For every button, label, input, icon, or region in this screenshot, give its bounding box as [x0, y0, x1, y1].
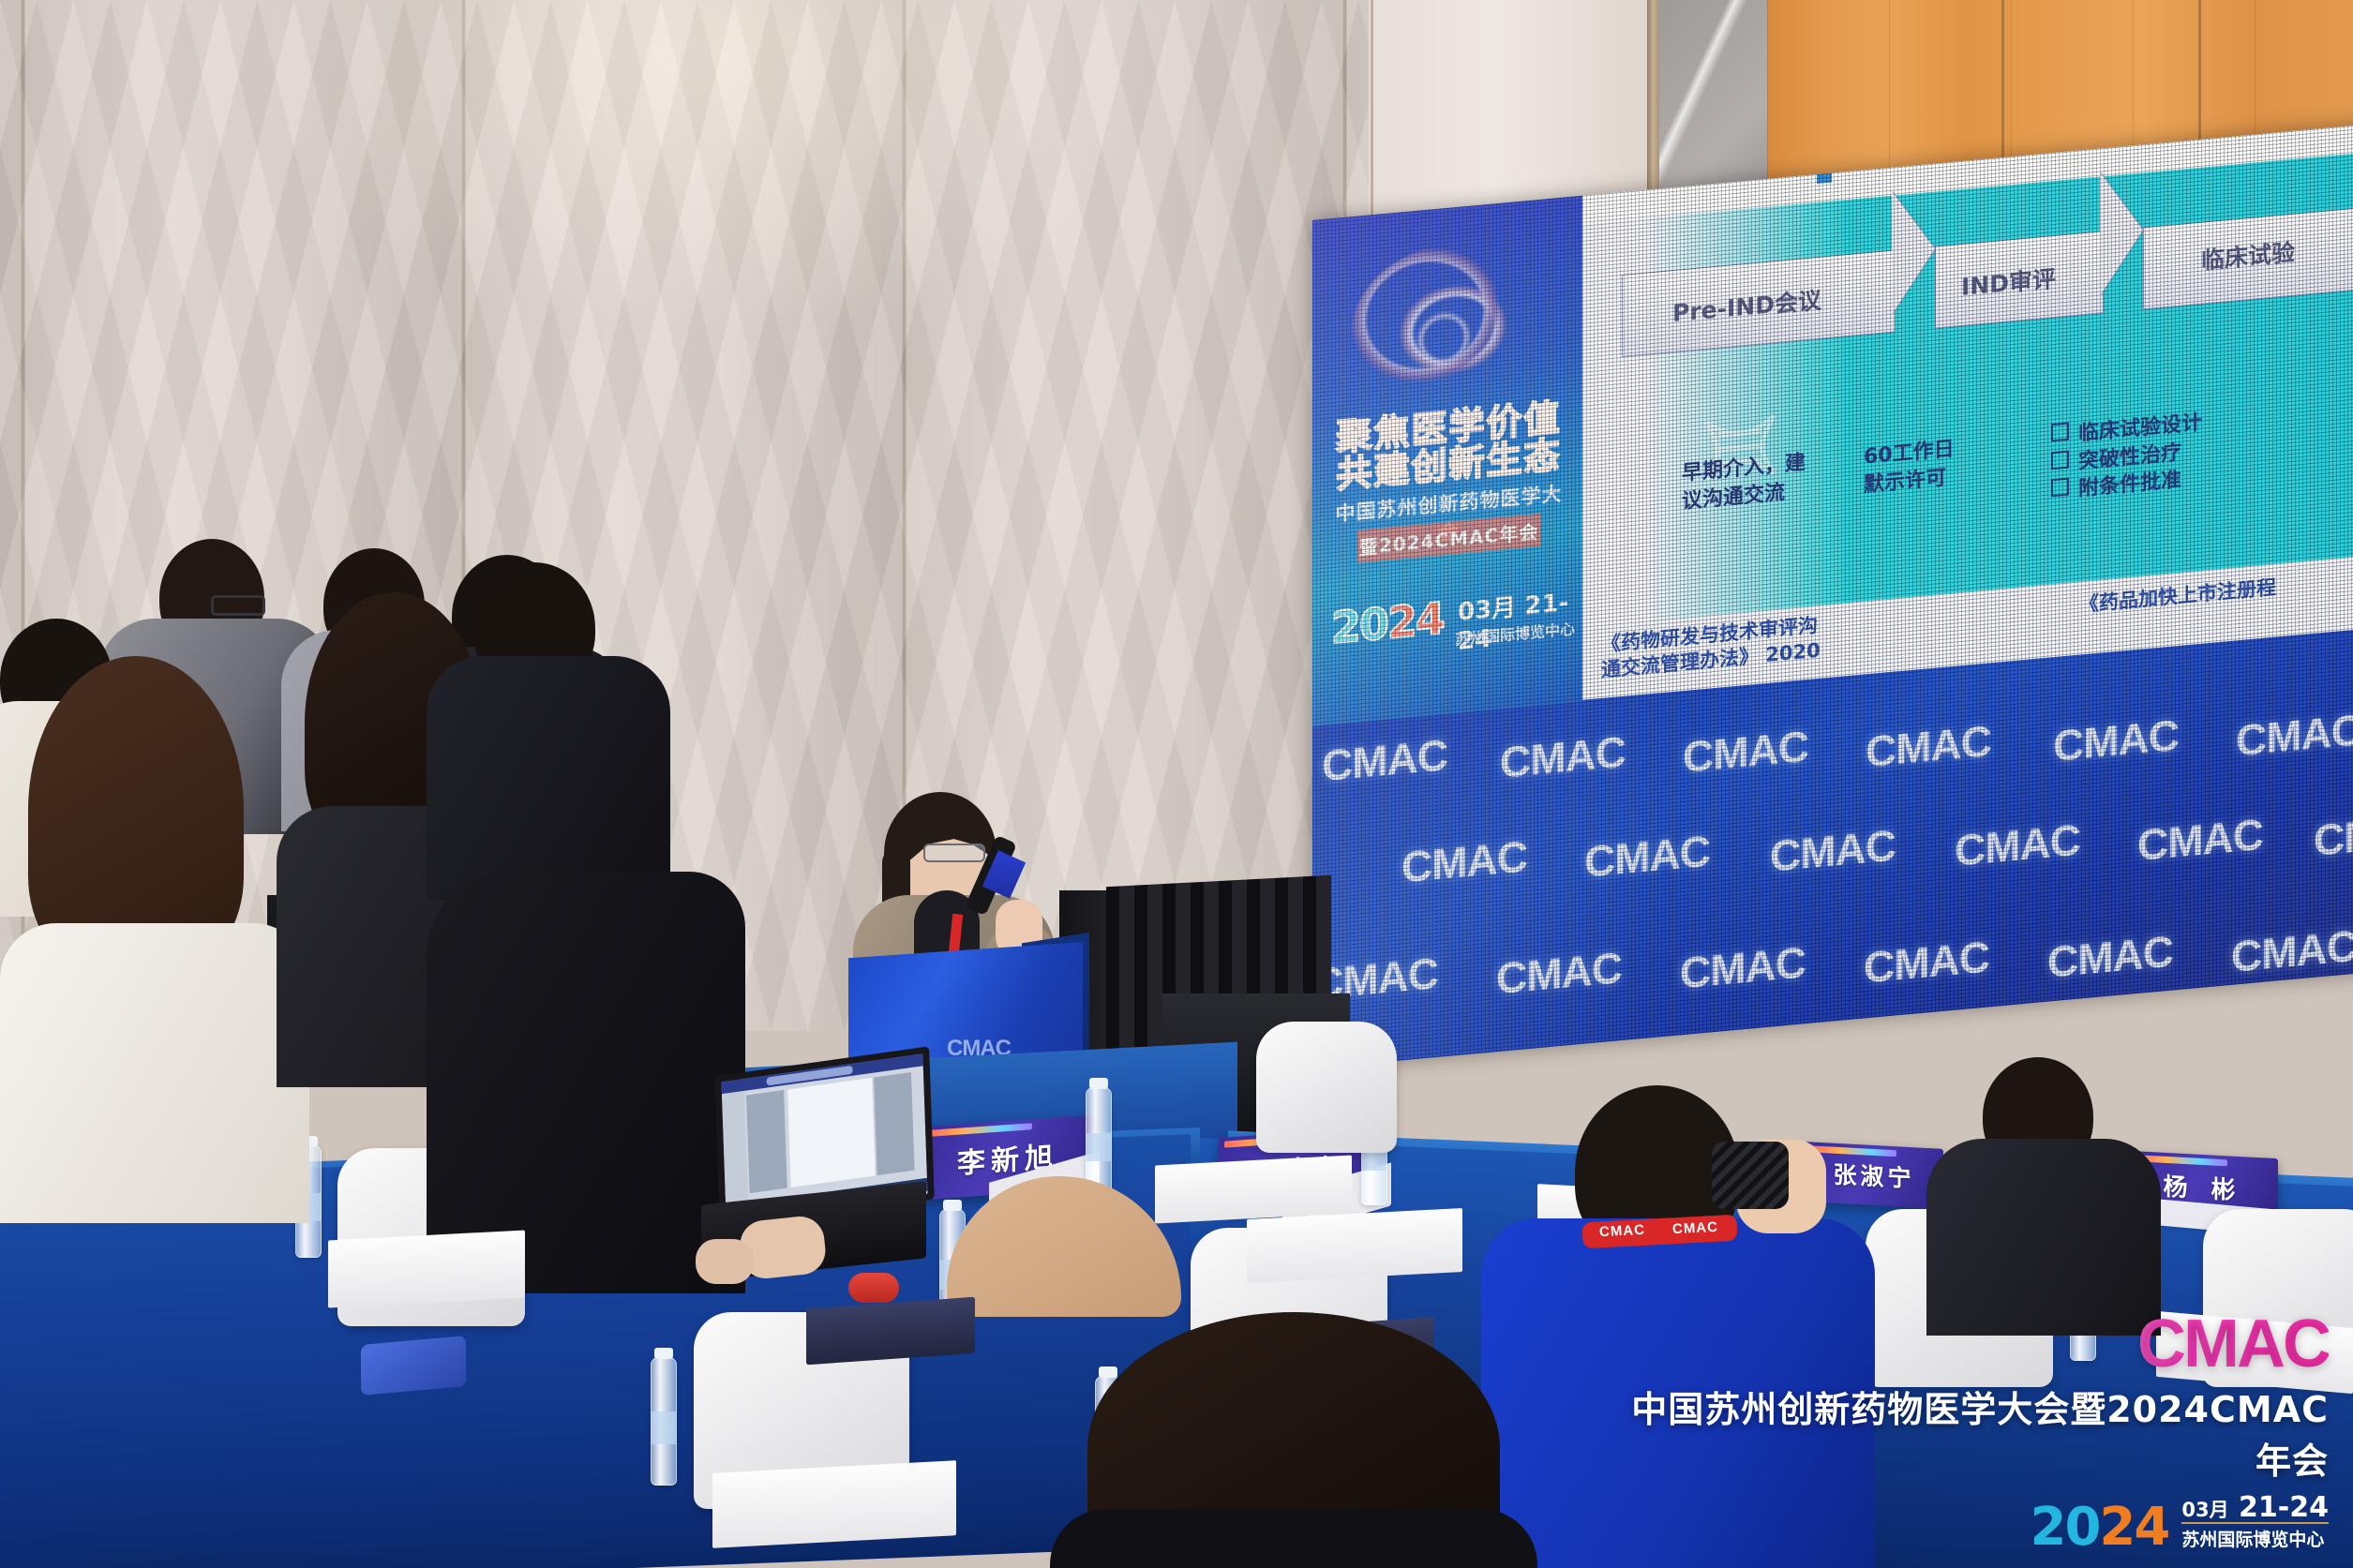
attendee-body: [1926, 1139, 2161, 1336]
attendee-body: [427, 656, 670, 900]
nameplate-accent-strip: [929, 1123, 1032, 1137]
flow-chevron-1: [1892, 187, 1935, 315]
flow-chevron-2: [2100, 168, 2143, 295]
slide-body: Pre-IND会议 IND审评 临床试验 早期介入，建 议沟: [1582, 152, 2353, 627]
attendee-body: [1050, 1509, 1537, 1568]
cmac-tile: CMAC: [1955, 814, 2080, 875]
glasses-icon: [211, 595, 265, 616]
bottle-cap: [1099, 1366, 1117, 1378]
nameplate-accent-strip: [1810, 1145, 1896, 1157]
bottle-cap: [654, 1348, 673, 1359]
attendee-hair: [28, 656, 244, 965]
paper-document: [712, 1460, 956, 1548]
cmac-tile: CMAC: [1401, 830, 1527, 892]
poster-year-b: 24: [1387, 592, 1444, 648]
bottle-cap: [943, 1200, 962, 1211]
presentation-slide: BOJIMED 博济医药 ✳ 细胞基因治疗产品的临 Pre-IND会议 IND审…: [1582, 124, 2353, 700]
cmac-tile: CMAC: [1864, 931, 1989, 993]
lanyard-text: CMAC: [1599, 1222, 1646, 1241]
nameplate-text: 张淑宁: [1833, 1157, 1914, 1195]
poster-swirl-graphic: [1350, 237, 1537, 423]
citation-left: 《药物研发与技术审评沟 通交流管理办法》 2020: [1601, 613, 1821, 684]
phone: [361, 1336, 466, 1396]
cmac-tile: CMAC: [2137, 809, 2263, 871]
screenshot-root: CMAC CMAC CMAC CMAC CMAC CMAC CMAC CMAC …: [0, 0, 2353, 1568]
water-bottle: [651, 1357, 677, 1486]
cmac-tile: CMAC: [2231, 920, 2353, 982]
checkbox-icon: [2051, 478, 2069, 498]
cmac-tile: CMAC: [2047, 925, 2173, 987]
flow-detail-column-2: 60工作日 默示许可: [1864, 431, 2004, 500]
cmac-tile: CMAC: [1770, 819, 1896, 881]
cmac-tile: CMAC: [1683, 721, 1808, 783]
cmac-tile: CMAC: [1584, 825, 1710, 887]
bottle-cap: [1089, 1078, 1108, 1089]
cmac-tile: CMAC: [1866, 715, 1991, 777]
citation-right: 《药品加快上市注册程: [2079, 575, 2276, 618]
lanyard-text: CMAC: [1672, 1219, 1719, 1238]
attendee-body: [0, 923, 309, 1223]
bottle-label: [1087, 1133, 1111, 1161]
cmac-tile: CMAC: [2314, 804, 2353, 866]
chair: [1256, 1022, 1397, 1153]
led-video-wall: CMAC CMAC CMAC CMAC CMAC CMAC CMAC CMAC …: [1312, 124, 2353, 1068]
cmac-tile: CMAC: [1680, 936, 1806, 998]
cmac-tile: CMAC: [1322, 729, 1447, 791]
attendee-foreground-body: [427, 872, 745, 1293]
bottle-label: [652, 1411, 676, 1444]
mouse: [848, 1273, 899, 1303]
attendee-hand: [696, 1239, 754, 1284]
cmac-tile: CMAC: [1496, 942, 1622, 1004]
cmac-tile: CMAC: [2053, 709, 2179, 771]
cmac-tile: CMAC: [1500, 726, 1626, 788]
glasses-icon: [923, 844, 985, 862]
poster-year-a: 20: [1331, 598, 1387, 653]
checkbox-icon: [2051, 450, 2069, 470]
cmac-tile: CMAC: [2236, 704, 2353, 766]
paper-document: [1155, 1155, 1352, 1223]
conference-poster-panel: 聚焦医学价值 共建创新生态 中国苏州创新药物医学大会 暨2024CMAC年会 2…: [1312, 196, 1584, 726]
paper-document: [328, 1230, 525, 1307]
paper-document: [1247, 1208, 1462, 1283]
notebook: [806, 1297, 975, 1366]
attendee-body: [1481, 1218, 1875, 1568]
flow-checklist: 临床试验设计 突破性治疗 附条件批准: [2051, 397, 2332, 506]
mask: [1712, 1142, 1789, 1209]
checkbox-icon: [2051, 423, 2069, 442]
poster-year: 2024: [1331, 592, 1444, 653]
